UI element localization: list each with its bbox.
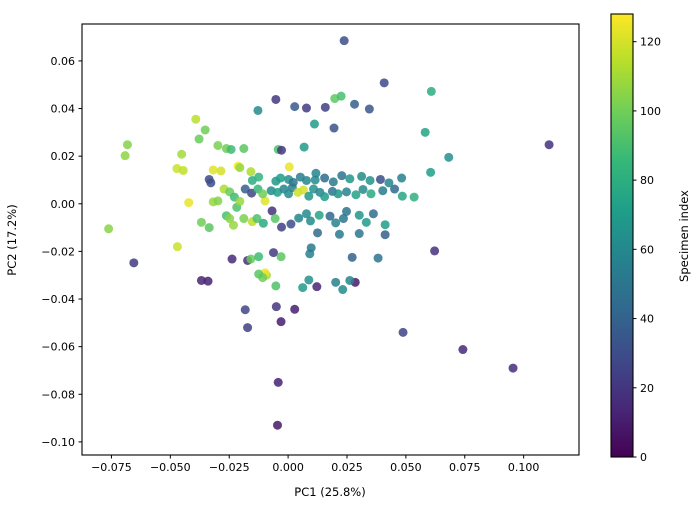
scatter-point bbox=[271, 95, 280, 104]
scatter-point bbox=[285, 162, 294, 171]
scatter-point bbox=[209, 165, 218, 174]
colorbar-tick-label: 0 bbox=[640, 451, 647, 464]
scatter-point bbox=[191, 115, 200, 124]
y-tick-label: −0.10 bbox=[41, 436, 75, 449]
scatter-point bbox=[330, 124, 339, 133]
y-axis-label: PC2 (17.2%) bbox=[5, 204, 19, 275]
scatter-point bbox=[254, 173, 263, 182]
scatter-point bbox=[335, 230, 344, 239]
scatter-point bbox=[509, 364, 518, 373]
scatter-point bbox=[345, 174, 354, 183]
scatter-point bbox=[320, 174, 329, 183]
scatter-point bbox=[350, 100, 359, 109]
scatter-point bbox=[184, 198, 193, 207]
scatter-point bbox=[273, 421, 282, 430]
scatter-point bbox=[369, 209, 378, 218]
scatter-point bbox=[340, 36, 349, 45]
colorbar-tick-label: 60 bbox=[640, 243, 654, 256]
scatter-point bbox=[259, 219, 268, 228]
x-tick-label: −0.075 bbox=[91, 461, 132, 474]
scatter-point bbox=[365, 105, 374, 114]
colorbar-label: Specimen index bbox=[677, 190, 691, 282]
scatter-point bbox=[306, 216, 315, 225]
scatter-point bbox=[173, 242, 182, 251]
scatter-point bbox=[399, 328, 408, 337]
scatter-point bbox=[239, 214, 248, 223]
scatter-point bbox=[201, 125, 210, 134]
scatter-point bbox=[398, 192, 407, 201]
y-tick-label: 0.06 bbox=[51, 55, 76, 68]
scatter-point bbox=[294, 214, 303, 223]
scatter-point bbox=[397, 174, 406, 183]
scatter-point bbox=[320, 192, 329, 201]
scatter-point bbox=[362, 218, 371, 227]
scatter-point bbox=[298, 283, 307, 292]
scatter-point bbox=[342, 207, 351, 216]
scatter-point bbox=[337, 92, 346, 101]
scatter-point bbox=[430, 246, 439, 255]
scatter-point bbox=[321, 103, 330, 112]
scatter-point bbox=[374, 254, 383, 263]
scatter-point bbox=[427, 87, 436, 96]
scatter-point bbox=[290, 305, 299, 314]
y-tick-label: −0.06 bbox=[41, 341, 75, 354]
scatter-point bbox=[277, 317, 286, 326]
x-tick-label: 0.100 bbox=[508, 461, 540, 474]
scatter-point bbox=[121, 151, 130, 160]
scatter-point bbox=[271, 214, 280, 223]
scatter-point bbox=[381, 220, 390, 229]
scatter-point bbox=[376, 175, 385, 184]
scatter-point bbox=[380, 78, 389, 87]
scatter-point bbox=[310, 120, 319, 129]
scatter-point bbox=[384, 178, 393, 187]
scatter-point bbox=[307, 243, 316, 252]
scatter-point bbox=[410, 193, 419, 202]
scatter-point bbox=[302, 104, 311, 113]
scatter-point bbox=[367, 189, 376, 198]
scatter-point bbox=[243, 323, 252, 332]
scatter-point bbox=[458, 345, 467, 354]
scatter-point bbox=[228, 255, 237, 264]
y-tick-label: −0.04 bbox=[41, 293, 75, 306]
colorbar-tick-label: 40 bbox=[640, 313, 654, 326]
scatter-point bbox=[315, 211, 324, 220]
colorbar-tick-label: 20 bbox=[640, 382, 654, 395]
x-tick-label: 0.025 bbox=[331, 461, 363, 474]
x-tick-label: 0.050 bbox=[390, 461, 422, 474]
x-axis-label: PC1 (25.8%) bbox=[294, 485, 365, 499]
scatter-point bbox=[235, 163, 244, 172]
y-tick-label: 0.02 bbox=[51, 150, 76, 163]
scatter-point bbox=[444, 153, 453, 162]
scatter-point bbox=[195, 135, 204, 144]
matplotlib-figure: −0.075−0.050−0.0250.0000.0250.0500.0750.… bbox=[0, 0, 697, 508]
scatter-point bbox=[300, 143, 309, 152]
colorbar-tick-label: 120 bbox=[640, 36, 661, 49]
scatter-point bbox=[329, 177, 338, 186]
scatter-point bbox=[313, 228, 322, 237]
scatter-point bbox=[213, 196, 222, 205]
scatter-point bbox=[277, 146, 286, 155]
scatter-point bbox=[213, 141, 222, 150]
scatter-point bbox=[254, 270, 263, 279]
scatter-point bbox=[104, 224, 113, 233]
scatter-point bbox=[342, 187, 351, 196]
scatter-point bbox=[378, 186, 387, 195]
scatter-point bbox=[271, 281, 280, 290]
scatter-point bbox=[129, 258, 138, 267]
scatter-point bbox=[276, 174, 285, 183]
scatter-point bbox=[253, 106, 262, 115]
colorbar-tick-label: 80 bbox=[640, 174, 654, 187]
x-tick-label: 0.000 bbox=[272, 461, 304, 474]
x-tick-label: 0.075 bbox=[449, 461, 481, 474]
scatter-point bbox=[366, 176, 375, 185]
x-tick-label: −0.050 bbox=[150, 461, 191, 474]
scatter-point bbox=[227, 145, 236, 154]
scatter-point bbox=[274, 378, 283, 387]
scatter-point bbox=[359, 185, 368, 194]
scatter-point bbox=[345, 276, 354, 285]
scatter-point bbox=[179, 166, 188, 175]
scatter-point bbox=[290, 102, 299, 111]
scatter-point bbox=[246, 167, 255, 176]
scatter-point bbox=[421, 128, 430, 137]
scatter-point bbox=[331, 218, 340, 227]
scatter-point bbox=[302, 176, 311, 185]
scatter-point bbox=[177, 150, 186, 159]
scatter-point bbox=[246, 255, 255, 264]
scatter-point bbox=[545, 140, 554, 149]
scatter-point bbox=[331, 278, 340, 287]
scatter-point bbox=[277, 223, 286, 232]
scatter-point bbox=[355, 229, 364, 238]
scatter-plot-canvas: −0.075−0.050−0.0250.0000.0250.0500.0750.… bbox=[0, 0, 697, 508]
scatter-point bbox=[334, 189, 343, 198]
scatter-point bbox=[355, 211, 364, 220]
x-tick-label: −0.025 bbox=[209, 461, 250, 474]
scatter-point bbox=[235, 197, 244, 206]
scatter-point bbox=[348, 253, 357, 262]
scatter-point bbox=[337, 171, 346, 180]
scatter-point bbox=[381, 230, 390, 239]
scatter-point bbox=[426, 168, 435, 177]
scatter-point bbox=[123, 140, 132, 149]
scatter-point bbox=[197, 276, 206, 285]
scatter-point bbox=[286, 220, 295, 229]
scatter-point bbox=[312, 282, 321, 291]
scatter-point bbox=[254, 252, 263, 261]
scatter-point bbox=[216, 166, 225, 175]
y-tick-label: −0.08 bbox=[41, 388, 75, 401]
scatter-point bbox=[277, 252, 286, 261]
axes-background bbox=[82, 24, 579, 455]
colorbar-tick-label: 100 bbox=[640, 105, 661, 118]
scatter-point bbox=[241, 305, 250, 314]
scatter-point bbox=[357, 172, 366, 181]
scatter-point bbox=[338, 285, 347, 294]
scatter-point bbox=[239, 144, 248, 153]
scatter-point bbox=[311, 169, 320, 178]
scatter-point bbox=[304, 275, 313, 284]
colorbar-gradient bbox=[611, 14, 633, 457]
scatter-point bbox=[206, 178, 215, 187]
y-tick-label: −0.02 bbox=[41, 245, 75, 258]
scatter-point bbox=[197, 218, 206, 227]
y-tick-label: 0.00 bbox=[51, 198, 76, 211]
y-tick-label: 0.04 bbox=[51, 103, 76, 116]
scatter-point bbox=[229, 221, 238, 230]
scatter-point bbox=[258, 189, 267, 198]
scatter-point bbox=[205, 223, 214, 232]
scatter-point bbox=[272, 302, 281, 311]
